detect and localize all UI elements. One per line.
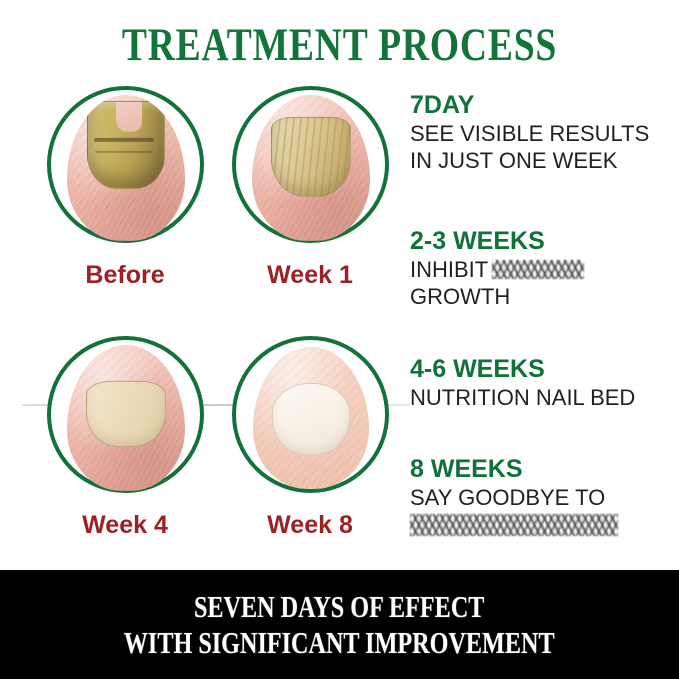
green-circle-frame bbox=[47, 336, 204, 493]
nail-plate bbox=[272, 382, 350, 454]
green-circle-frame bbox=[232, 86, 389, 243]
step-body-line: GROWTH bbox=[410, 283, 679, 310]
toenail-photo-icon bbox=[67, 344, 185, 490]
step-body: SEE VISIBLE RESULTS IN JUST ONE WEEK bbox=[410, 120, 679, 174]
photo-caption: Before bbox=[30, 260, 220, 290]
toenail-photo-icon bbox=[67, 94, 185, 240]
photo-cell-week-4[interactable]: Week 4 bbox=[30, 332, 220, 557]
green-circle-frame bbox=[232, 336, 389, 493]
step-2-3-weeks: 2-3 WEEKS INHIBIT GROWTH bbox=[410, 226, 679, 310]
photo-caption: Week 1 bbox=[215, 260, 405, 290]
step-8-weeks: 8 WEEKS SAY GOODBYE TO bbox=[410, 454, 679, 539]
step-body-line: SEE VISIBLE RESULTS bbox=[410, 120, 679, 147]
step-heading: 2-3 WEEKS bbox=[410, 226, 679, 256]
step-body: SAY GOODBYE TO bbox=[410, 484, 679, 539]
step-body-line: INHIBIT bbox=[410, 256, 679, 283]
banner-line-2: WITH SIGNIFICANT IMPROVEMENT bbox=[124, 625, 555, 661]
nail-plate bbox=[87, 100, 165, 188]
page-title: TREATMENT PROCESS bbox=[68, 18, 611, 72]
step-body-text: INHIBIT bbox=[410, 256, 488, 283]
step-4-6-weeks: 4-6 WEEKS NUTRITION NAIL BED bbox=[410, 354, 679, 411]
nail-plate bbox=[86, 380, 166, 446]
photo-caption: Week 8 bbox=[215, 510, 405, 540]
step-body: INHIBIT GROWTH bbox=[410, 256, 679, 310]
toenail-photo-icon bbox=[252, 94, 370, 240]
step-body-line: SAY GOODBYE TO bbox=[410, 484, 679, 511]
step-body: NUTRITION NAIL BED bbox=[410, 384, 679, 411]
redacted-word bbox=[410, 514, 618, 536]
step-heading: 7DAY bbox=[410, 90, 679, 120]
photo-caption: Week 4 bbox=[30, 510, 220, 540]
timeline-steps: 7DAY SEE VISIBLE RESULTS IN JUST ONE WEE… bbox=[410, 82, 679, 560]
step-7-day: 7DAY SEE VISIBLE RESULTS IN JUST ONE WEE… bbox=[410, 90, 679, 174]
photo-cell-week-1[interactable]: Week 1 bbox=[215, 82, 405, 307]
green-circle-frame bbox=[47, 86, 204, 243]
bottom-banner: SEVEN DAYS OF EFFECT WITH SIGNIFICANT IM… bbox=[0, 570, 679, 679]
nail-plate bbox=[271, 116, 351, 196]
step-body-line: IN JUST ONE WEEK bbox=[410, 147, 679, 174]
step-heading: 4-6 WEEKS bbox=[410, 354, 679, 384]
step-heading: 8 WEEKS bbox=[410, 454, 679, 484]
toenail-photo-icon bbox=[253, 346, 369, 488]
photo-cell-week-8[interactable]: Week 8 bbox=[215, 332, 405, 557]
photo-cell-before[interactable]: Before bbox=[30, 82, 220, 307]
step-body-line: NUTRITION NAIL BED bbox=[410, 384, 679, 411]
photo-grid: Before Week 1 Week 4 bbox=[0, 82, 410, 560]
redacted-word bbox=[492, 260, 584, 279]
treatment-process-infographic: TREATMENT PROCESS Before Week 1 bbox=[0, 0, 679, 679]
banner-line-1: SEVEN DAYS OF EFFECT bbox=[194, 589, 484, 625]
